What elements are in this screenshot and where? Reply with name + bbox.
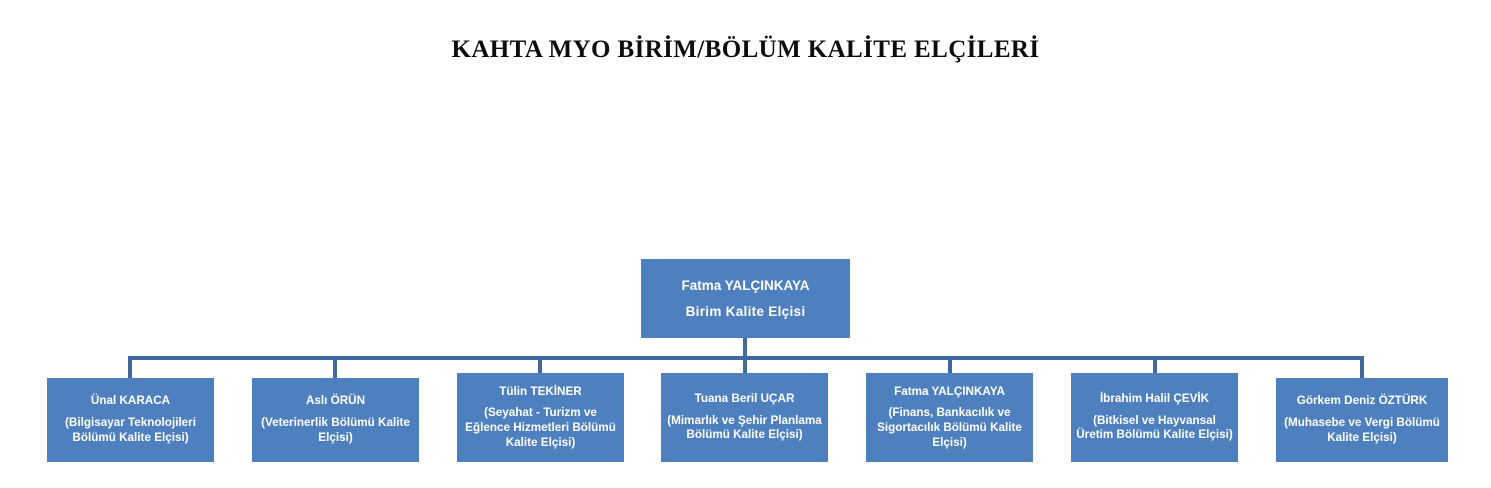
org-node-child-1-role: (Bilgisayar Teknolojileri Bölümü Kalite … [52,416,209,445]
org-node-child-6-role: (Bitkisel ve Hayvansal Üretim Bölümü Kal… [1076,414,1233,443]
org-node-child-4[interactable]: Tuana Beril UÇAR (Mimarlık ve Şehir Plan… [661,373,828,462]
org-node-child-7-name: Görkem Deniz ÖZTÜRK [1281,394,1443,409]
org-node-child-4-name: Tuana Beril UÇAR [666,392,823,407]
org-node-child-2-name: Aslı ÖRÜN [257,394,414,409]
org-node-child-2-role: (Veterinerlik Bölümü Kalite Elçisi) [257,416,414,445]
org-node-child-1-name: Ünal KARACA [52,394,209,409]
org-node-child-6[interactable]: İbrahim Halil ÇEVİK (Bitkisel ve Hayvans… [1071,373,1238,462]
org-node-child-6-name: İbrahim Halil ÇEVİK [1076,392,1233,407]
connector-drop-2 [333,356,337,379]
org-node-child-5-name: Fatma YALÇINKAYA [871,385,1028,400]
org-node-root-role: Birim Kalite Elçisi [641,303,850,320]
org-node-child-3-role: (Seyahat - Turizm ve Eğlence Hizmetleri … [462,406,619,450]
page-title: KAHTA MYO BİRİM/BÖLÜM KALİTE ELÇİLERİ [0,36,1491,64]
org-chart-canvas: KAHTA MYO BİRİM/BÖLÜM KALİTE ELÇİLERİ Fa… [0,0,1491,488]
org-node-child-7[interactable]: Görkem Deniz ÖZTÜRK (Muhasebe ve Vergi B… [1276,378,1448,462]
org-node-child-1[interactable]: Ünal KARACA (Bilgisayar Teknolojileri Bö… [47,378,214,462]
org-node-child-2[interactable]: Aslı ÖRÜN (Veterinerlik Bölümü Kalite El… [252,378,419,462]
org-node-child-3-name: Tülin TEKİNER [462,385,619,400]
connector-drop-7 [1360,356,1364,379]
org-node-child-5[interactable]: Fatma YALÇINKAYA (Finans, Bankacılık ve … [866,373,1033,462]
org-node-child-5-role: (Finans, Bankacılık ve Sigortacılık Bölü… [871,406,1028,450]
org-node-child-7-role: (Muhasebe ve Vergi Bölümü Kalite Elçisi) [1281,416,1443,445]
org-node-root[interactable]: Fatma YALÇINKAYA Birim Kalite Elçisi [641,259,850,338]
connector-root-stem [743,338,747,358]
org-node-root-name: Fatma YALÇINKAYA [641,277,850,294]
org-node-child-4-role: (Mimarlık ve Şehir Planlama Bölümü Kalit… [666,414,823,443]
org-node-child-3[interactable]: Tülin TEKİNER (Seyahat - Turizm ve Eğlen… [457,373,624,462]
connector-drop-1 [128,356,132,379]
